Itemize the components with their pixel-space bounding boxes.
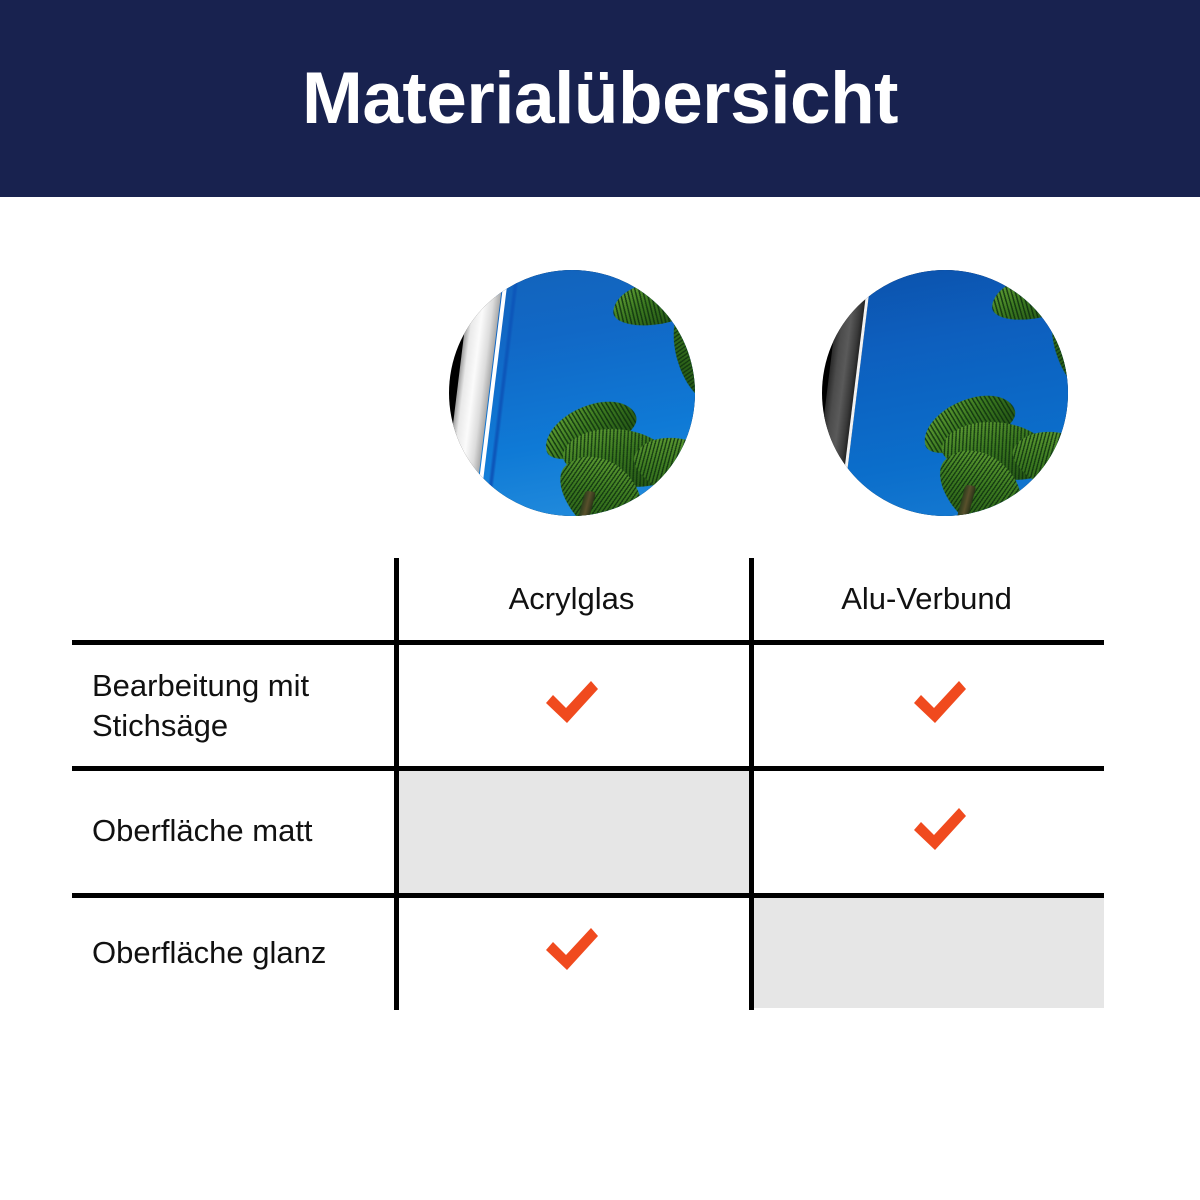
table-rule-header-bottom bbox=[72, 640, 1104, 645]
check-icon-stichsaege-acrylglas bbox=[540, 673, 604, 737]
row-label-line-1: Bearbeitung mit bbox=[92, 668, 309, 703]
column-header-alu-verbund-label: Alu-Verbund bbox=[841, 581, 1012, 617]
page-title: Materialübersicht bbox=[302, 62, 898, 135]
product-thumbnails bbox=[0, 270, 1200, 520]
material-comparison-table: Acrylglas Alu-Verbund Bearbeitung mit St… bbox=[72, 558, 1104, 1010]
column-header-acrylglas: Acrylglas bbox=[394, 558, 749, 640]
check-icon-stichsaege-alu-verbund bbox=[908, 673, 972, 737]
row-label-oberflaeche-matt-text: Oberfläche matt bbox=[92, 811, 313, 851]
row-label-oberflaeche-glanz: Oberfläche glanz bbox=[92, 898, 392, 1008]
check-icon-matt-alu-verbund bbox=[908, 800, 972, 864]
alu-verbund-product-photo bbox=[822, 270, 1068, 516]
check-icon-glanz-acrylglas bbox=[540, 920, 604, 984]
column-header-acrylglas-label: Acrylglas bbox=[509, 581, 635, 617]
header-banner: Materialübersicht bbox=[0, 0, 1200, 197]
column-header-alu-verbund: Alu-Verbund bbox=[749, 558, 1104, 640]
acrylglas-product-photo bbox=[449, 270, 695, 516]
row-label-bearbeitung-stichsaege: Bearbeitung mit Stichsäge bbox=[92, 650, 392, 762]
row-label-oberflaeche-glanz-text: Oberfläche glanz bbox=[92, 933, 326, 973]
cell-shade-matt-acrylglas bbox=[395, 769, 750, 896]
cell-shade-glanz-alu-verbund bbox=[750, 896, 1104, 1008]
thumbnail-acrylglas[interactable] bbox=[449, 270, 695, 516]
row-label-oberflaeche-matt: Oberfläche matt bbox=[92, 771, 392, 891]
row-label-line-2: Stichsäge bbox=[92, 708, 228, 743]
thumbnail-alu-verbund[interactable] bbox=[822, 270, 1068, 516]
